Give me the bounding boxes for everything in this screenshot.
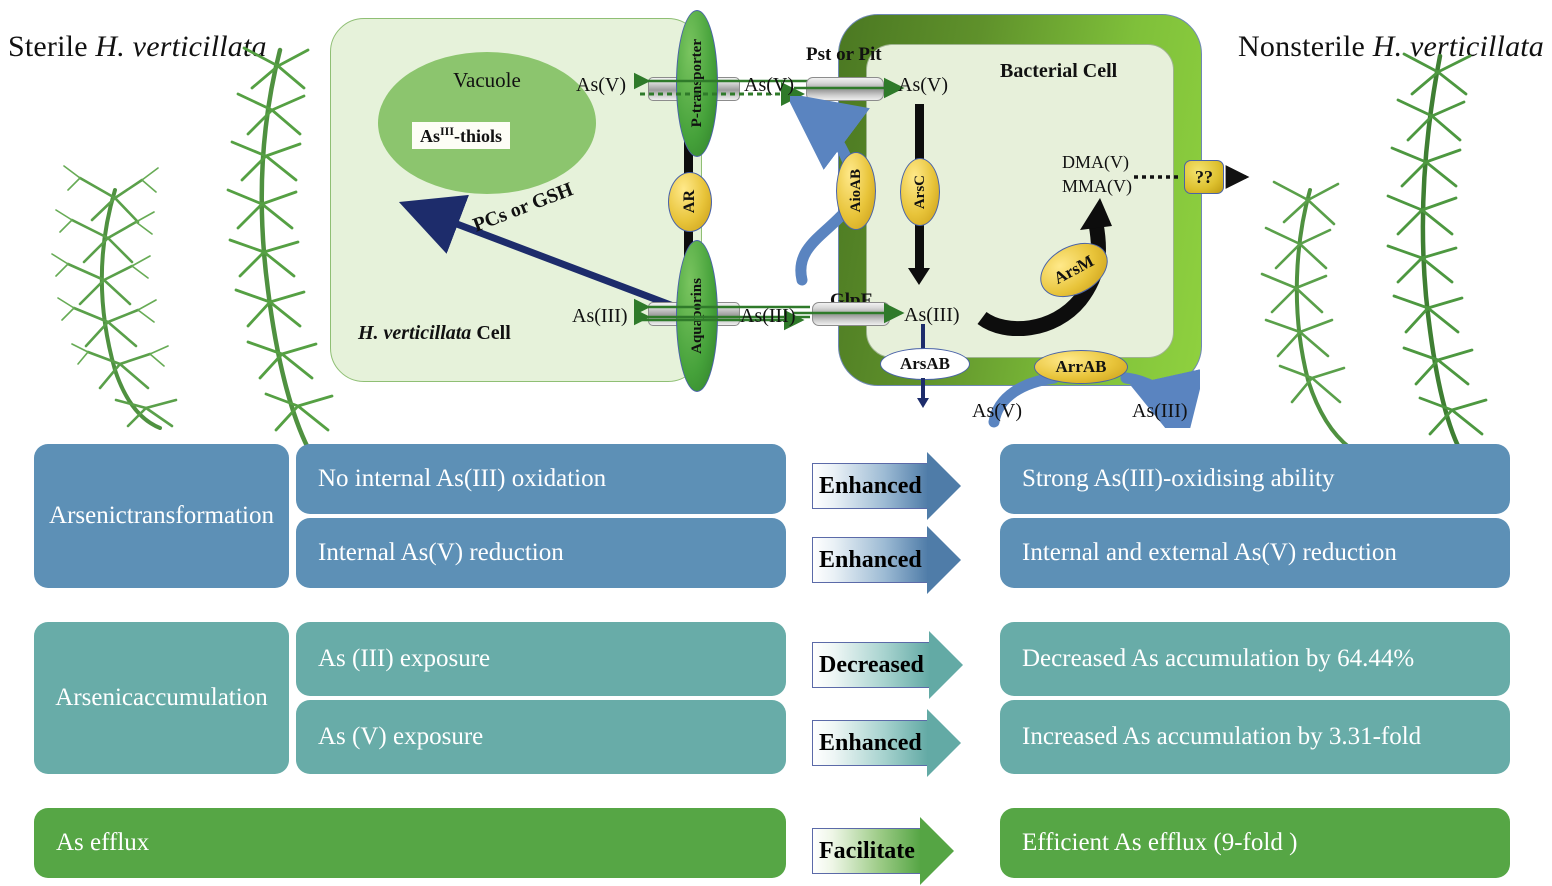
arsab-arrow-shaft-bottom (921, 378, 925, 400)
arrow-facilitate-head (920, 817, 954, 885)
plant-illustration-right-2 (1330, 48, 1540, 448)
item-box-no-internal-oxidation: No internal As(III) oxidation (296, 444, 786, 514)
glpf-flux-arrow (790, 300, 910, 328)
arrow-enhanced-2-head (927, 526, 961, 594)
enzyme-arrab-label: ArrAB (1056, 357, 1107, 377)
unknown-transporter-label: ?? (1195, 167, 1213, 188)
category-arsenic-transformation: Arsenictransformation (34, 444, 289, 588)
arsc-arrow-head (908, 268, 930, 285)
arrow-decreased-label: Decreased (812, 642, 930, 688)
result-box-increased-accumulation: Increased As accumulation by 3.31-fold (1000, 700, 1510, 774)
result-box-efficient-efflux: Efficient As efflux (9-fold ) (1000, 808, 1510, 878)
arsab-arrow-shaft-top (921, 324, 925, 350)
result-box-strong-oxidising: Strong As(III)-oxidising ability (1000, 444, 1510, 514)
item-box-asiii-exposure: As (III) exposure (296, 622, 786, 696)
arsab-arrow-head (917, 398, 929, 408)
bacterial-internal-asiii-label: As(III) (904, 304, 960, 327)
enzyme-aioab: AioAB (836, 152, 876, 230)
arrow-enhanced-2-label: Enhanced (812, 537, 928, 583)
enzyme-ar: AR (668, 172, 712, 232)
pst-or-pit-label: Pst or Pit (806, 44, 882, 66)
enzyme-arsm-label: ArsM (1051, 251, 1098, 289)
bacterial-external-asiii-label: As(III) (1132, 400, 1188, 423)
plant-internal-asv-label: As(V) (576, 74, 626, 97)
enzyme-arrab: ArrAB (1034, 350, 1128, 384)
arrow-enhanced-1-label: Enhanced (812, 463, 928, 509)
enzyme-arsc: ArsC (900, 158, 940, 226)
arrow-enhanced-3: Enhanced (812, 709, 961, 777)
bacterial-internal-asv-label: As(V) (898, 74, 948, 97)
unknown-transporter: ?? (1184, 160, 1224, 194)
arrow-enhanced-2: Enhanced (812, 526, 961, 594)
arrow-decreased: Decreased (812, 631, 963, 699)
enzyme-ar-label: AR (681, 190, 699, 213)
item-box-internal-reduction: Internal As(V) reduction (296, 518, 786, 588)
left-title-prefix: Sterile (8, 30, 95, 63)
external-asiii-label: As(III) (740, 305, 796, 328)
arrow-enhanced-3-head (927, 709, 961, 777)
external-asv-label: As(V) (744, 74, 794, 97)
vacuole-label: Vacuole (378, 52, 596, 93)
enzyme-aioab-label: AioAB (848, 169, 865, 212)
mma-label: MMA(V) (1062, 176, 1132, 197)
bacterial-external-asv-label: As(V) (972, 400, 1022, 423)
arrow-decreased-head (929, 631, 963, 699)
plant-internal-asiii-label: As(III) (572, 305, 628, 328)
enzyme-arsc-label: ArsC (912, 175, 929, 209)
result-box-decreased-accumulation: Decreased As accumulation by 64.44% (1000, 622, 1510, 696)
arrow-enhanced-3-label: Enhanced (812, 720, 928, 766)
arrow-facilitate-label: Facilitate (812, 828, 921, 874)
arrow-enhanced-1-head (927, 452, 961, 520)
dma-label: DMA(V) (1062, 152, 1129, 173)
category-arsenic-accumulation: Arsenicaccumulation (34, 622, 289, 774)
as3-thiols-label: AsIII-thiols (412, 122, 510, 149)
bacterial-cell-label: Bacterial Cell (1000, 60, 1117, 83)
item-box-as-efflux: As efflux (34, 808, 786, 878)
arrow-enhanced-1: Enhanced (812, 452, 961, 520)
result-box-internal-external-reduction: Internal and external As(V) reduction (1000, 518, 1510, 588)
item-box-asv-exposure: As (V) exposure (296, 700, 786, 774)
enzyme-arsab-label: ArsAB (900, 354, 950, 374)
arrow-facilitate: Facilitate (812, 817, 954, 885)
enzyme-arsab: ArsAB (880, 348, 970, 380)
